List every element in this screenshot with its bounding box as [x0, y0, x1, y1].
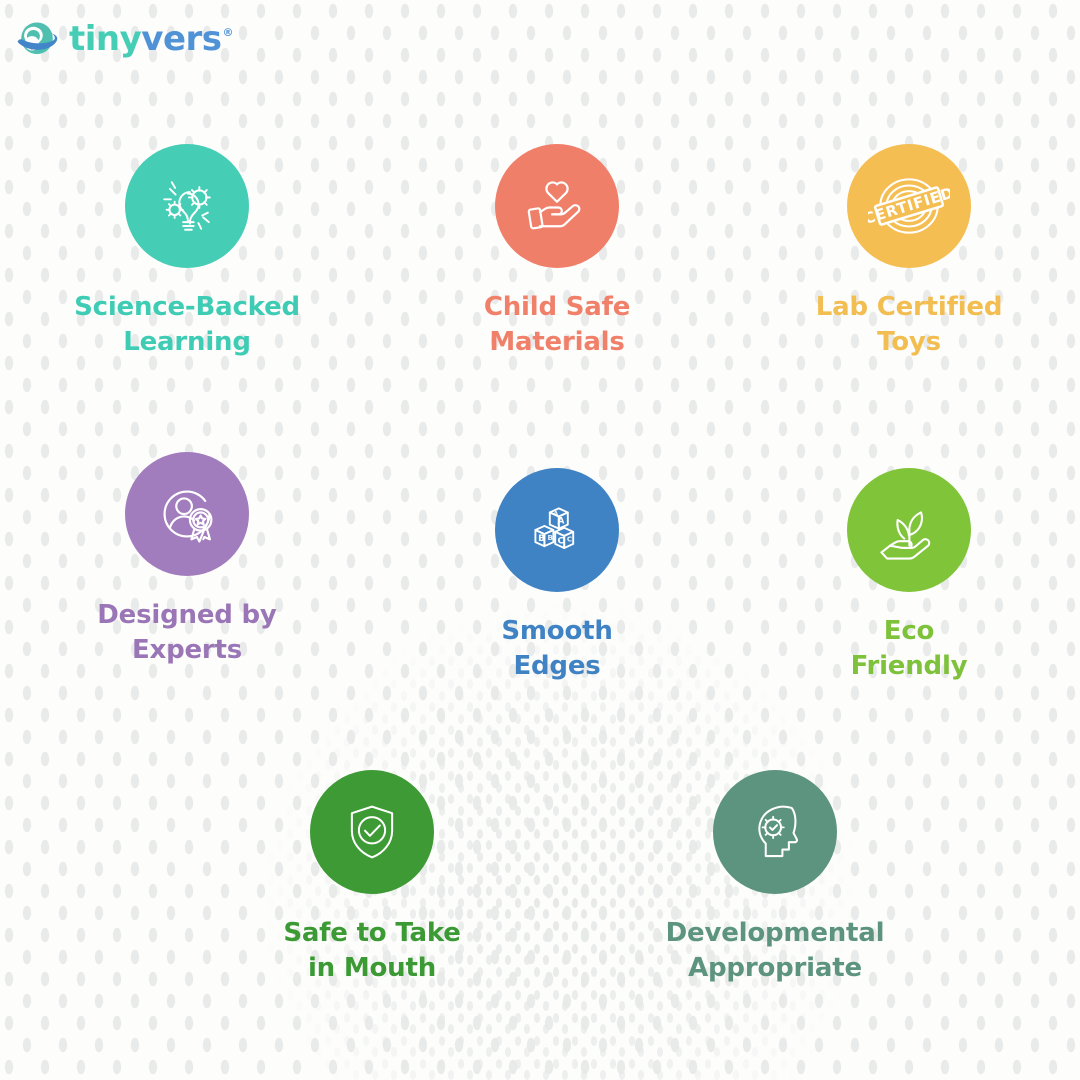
feature-grid: Science-Backed Learning Child Safe Mater…: [0, 0, 1080, 1080]
feature-icon-circle: [125, 452, 249, 576]
shield-check-icon: [337, 797, 407, 867]
feature-label: Lab Certified Toys: [816, 290, 1003, 359]
brand-wordmark: tinyvers®: [69, 22, 232, 56]
svg-text:C: C: [557, 537, 564, 547]
hand-plant-icon: [871, 492, 947, 568]
feature-icon-circle: CERTIFIED: [847, 144, 971, 268]
feature-label: Designed by Experts: [97, 598, 276, 667]
svg-text:C: C: [567, 535, 572, 544]
feature-safe-to-take-in-mouth[interactable]: Safe to Take in Mouth: [242, 770, 502, 985]
feature-label: Developmental Appropriate: [666, 916, 885, 985]
feature-designed-by-experts[interactable]: Designed by Experts: [57, 452, 317, 667]
feature-label: Science-Backed Learning: [74, 290, 300, 359]
feature-icon-circle: A A B B C C: [495, 468, 619, 592]
feature-label: Smooth Edges: [501, 614, 612, 683]
feature-child-safe-materials[interactable]: Child Safe Materials: [427, 144, 687, 359]
certified-stamp-icon: CERTIFIED: [868, 165, 950, 247]
svg-text:A: A: [557, 516, 564, 526]
feature-smooth-edges[interactable]: A A B B C C: [427, 468, 687, 683]
svg-text:B: B: [548, 533, 553, 542]
feature-label: Child Safe Materials: [484, 290, 630, 359]
hand-heart-icon: [519, 168, 595, 244]
brand-logo[interactable]: tinyvers®: [14, 16, 232, 62]
feature-icon-circle: [495, 144, 619, 268]
feature-icon-circle: [847, 468, 971, 592]
brand-name-part2: vers: [141, 22, 221, 56]
feature-icon-circle: [713, 770, 837, 894]
feature-label: Safe to Take in Mouth: [283, 916, 460, 985]
brand-name-part1: tiny: [69, 22, 141, 56]
feature-label: Eco Friendly: [851, 614, 968, 683]
svg-text:A: A: [553, 511, 558, 518]
feature-icon-circle: [125, 144, 249, 268]
head-gear-check-icon: [738, 795, 812, 869]
feature-science-backed-learning[interactable]: Science-Backed Learning: [57, 144, 317, 359]
feature-developmental-appropriate[interactable]: Developmental Appropriate: [645, 770, 905, 985]
globe-baby-icon: [14, 16, 60, 62]
lightbulb-gears-icon: [149, 168, 225, 244]
abc-blocks-icon: A A B B C C: [521, 494, 593, 566]
feature-lab-certified-toys[interactable]: CERTIFIED Lab Certified Toys: [779, 144, 1039, 359]
svg-text:B: B: [538, 534, 545, 544]
feature-eco-friendly[interactable]: Eco Friendly: [779, 468, 1039, 683]
person-award-icon: [148, 475, 226, 553]
feature-icon-circle: [310, 770, 434, 894]
registered-trademark-icon: ®: [223, 27, 234, 38]
